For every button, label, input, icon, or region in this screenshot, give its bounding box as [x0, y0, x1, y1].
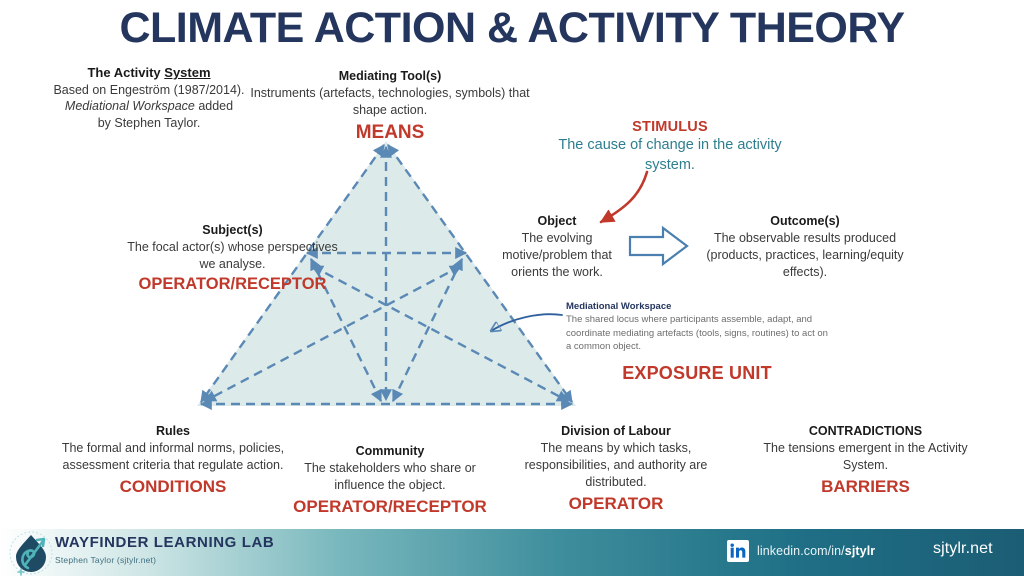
division-keyword: OPERATOR [500, 493, 732, 514]
mediational-workspace-keyword: EXPOSURE UNIT [566, 363, 828, 384]
node-division-of-labour: Division of Labour The means by which ta… [500, 423, 732, 514]
node-community: Community The stakeholders who share or … [292, 443, 488, 517]
footer-bar: WAYFINDER LEARNING LAB Stephen Taylor (s… [0, 529, 1024, 576]
mediational-workspace-heading: Mediational Workspace [566, 301, 828, 313]
object-heading: Object [493, 213, 621, 230]
community-keyword: OPERATOR/RECEPTOR [292, 496, 488, 517]
website-link[interactable]: sjtylr.net [933, 540, 993, 558]
stimulus-body: The cause of change in the activity syst… [545, 136, 795, 175]
rules-keyword: CONDITIONS [28, 476, 318, 497]
subject-heading: Subject(s) [120, 222, 345, 239]
stimulus-keyword: STIMULUS [545, 118, 795, 136]
mediational-workspace-body: The shared locus where participants asse… [566, 313, 828, 353]
node-rules: Rules The formal and informal norms, pol… [28, 423, 318, 497]
diagram-canvas: CLIMATE ACTION & ACTIVITY THEORY [0, 0, 1024, 576]
contradictions-heading: CONTRADICTIONS [748, 423, 983, 440]
linkedin-icon[interactable] [727, 540, 749, 562]
mediational-workspace-callout: Mediational Workspace The shared locus w… [566, 301, 828, 354]
tools-body: Instruments (artefacts, technologies, sy… [250, 85, 530, 119]
node-stimulus: STIMULUS The cause of change in the acti… [545, 118, 795, 175]
linkedin-link[interactable]: linkedin.com/in/sjtylr [727, 540, 875, 562]
community-body: The stakeholders who share or influence … [292, 460, 488, 494]
object-body: The evolving motive/problem that orients… [493, 230, 621, 281]
wayfinder-logo-icon [8, 530, 54, 576]
community-heading: Community [292, 443, 488, 460]
brand-title: WAYFINDER LEARNING LAB [55, 535, 274, 552]
contradictions-keyword: BARRIERS [748, 476, 983, 497]
brand-block: WAYFINDER LEARNING LAB Stephen Taylor (s… [55, 535, 274, 565]
subject-keyword: OPERATOR/RECEPTOR [120, 274, 345, 295]
outcome-body: The observable results produced (product… [690, 230, 920, 281]
brand-subtitle: Stephen Taylor (sjtylr.net) [55, 555, 274, 565]
node-subject: Subject(s) The focal actor(s) whose pers… [120, 222, 345, 294]
linkedin-text[interactable]: linkedin.com/in/sjtylr [757, 544, 875, 558]
node-object: Object The evolving motive/problem that … [493, 213, 621, 281]
node-mediating-tools: Mediating Tool(s) Instruments (artefacts… [250, 68, 530, 144]
node-outcome: Outcome(s) The observable results produc… [690, 213, 920, 281]
object-outcome-arrow [630, 228, 687, 264]
division-heading: Division of Labour [500, 423, 732, 440]
contradictions-body: The tensions emergent in the Activity Sy… [748, 440, 983, 474]
tools-heading: Mediating Tool(s) [250, 68, 530, 85]
division-body: The means by which tasks, responsibiliti… [500, 440, 732, 491]
node-contradictions: CONTRADICTIONS The tensions emergent in … [748, 423, 983, 497]
rules-body: The formal and informal norms, policies,… [28, 440, 318, 474]
subject-body: The focal actor(s) whose perspectives we… [120, 239, 345, 273]
tools-keyword: MEANS [250, 121, 530, 145]
rules-heading: Rules [28, 423, 318, 440]
outcome-heading: Outcome(s) [690, 213, 920, 230]
